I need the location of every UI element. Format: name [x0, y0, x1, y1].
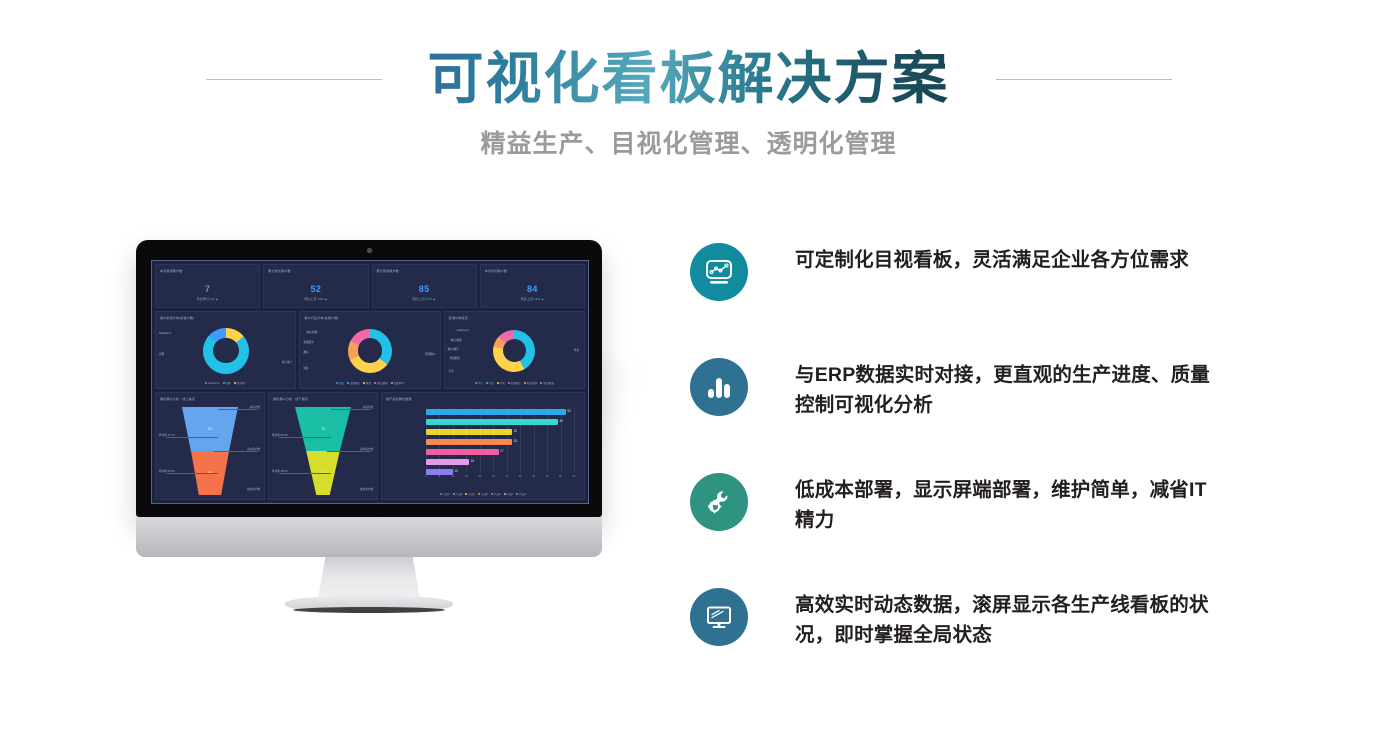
legend-item: 华北	[486, 381, 494, 385]
kpi-value: 52	[264, 284, 367, 294]
webcam-icon	[367, 248, 372, 253]
bar	[426, 459, 469, 465]
monitor-line-chart-icon	[690, 243, 748, 301]
axis-tick: 40	[532, 475, 535, 478]
kpi-title: 累计意向客户数	[377, 268, 399, 273]
donut-graphic	[493, 330, 535, 372]
funnel-segment: 73	[295, 407, 351, 451]
funnel-graphic: 73 52	[295, 407, 351, 487]
legend-item: 教育	[363, 381, 371, 385]
funnel-graphic: 117 68	[182, 407, 238, 487]
legend-item: 产品C	[465, 492, 475, 496]
bar-value: 32	[514, 439, 518, 443]
bar-plot-area: 52 49 32 32 27 16	[426, 407, 574, 473]
funnel-axis-label: 意向客户数	[247, 447, 260, 451]
legend-item: 产品F	[504, 492, 514, 496]
legend-item: 线下推广	[234, 381, 247, 385]
donut-graphic-wrap	[300, 325, 439, 376]
kpi-title: 本月新增客户数	[160, 268, 182, 273]
wrench-gear-icon	[690, 473, 748, 531]
title-rule-left	[206, 79, 382, 80]
axis-tick: 30	[505, 475, 508, 478]
legend-item: 产品G	[516, 492, 526, 496]
kpi-sub: 同比上月 17% ▲	[373, 296, 476, 301]
axis-tick: 35	[519, 475, 522, 478]
donut-graphic-wrap	[156, 325, 295, 376]
title-row: 可视化看板解决方案	[0, 44, 1377, 114]
legend-item: 华东	[475, 381, 483, 385]
legend-item: 产品A	[440, 492, 450, 496]
kpi-value: 7	[156, 284, 259, 294]
chart-title: 销售漏斗分析 - 线上渠道	[160, 396, 195, 401]
feature-item-2[interactable]: 与ERP数据实时对接，更直观的生产进度、质量控制可视化分析	[690, 358, 1230, 416]
feature-item-3[interactable]: 低成本部署，显示屏端部署，维护简单，减省IT精力	[690, 473, 1230, 531]
funnel-axis-label: 成交客户数	[360, 487, 373, 491]
kpi-title: 本月访问客户数	[485, 268, 507, 273]
funnel-leader-line	[218, 409, 258, 410]
kpi-sub: 同比上月 13% ▲	[264, 296, 367, 301]
monitor-chin	[136, 517, 602, 557]
axis-tick: 45	[546, 475, 549, 478]
monitor-base-edge	[293, 607, 445, 613]
feature-item-4[interactable]: 高效实时动态数据，滚屏显示各生产线看板的状况，即时掌握全局状态	[690, 588, 1230, 646]
legend-item: 金融服务	[508, 381, 521, 385]
chart-title: 各产品线销售数量	[386, 396, 412, 401]
axis-tick: 55	[573, 475, 576, 478]
legend-item: 华南	[497, 381, 505, 385]
funnel-rate-label: 转化率 45.6%	[159, 469, 175, 473]
legend-item: 电信/媒体	[374, 381, 388, 385]
chart-title: 客户来源分布(总客户数)	[160, 315, 194, 320]
feature-item-1[interactable]: 可定制化目视看板，灵活满足企业各方位需求	[690, 243, 1230, 301]
legend-item: 制造	[336, 381, 344, 385]
bar-value: 27	[500, 449, 504, 453]
kpi-row: 本月新增客户数 7 环比昨日 2% ▲ 累计成交客户数 52 同比上月 13% …	[155, 264, 585, 308]
chart-legend: Salesforce 官网 线下推广	[156, 381, 295, 385]
page-title: 可视化看板解决方案	[428, 46, 950, 112]
chart-title: 销售漏斗分析 - 线下渠道	[273, 396, 308, 401]
kpi-card[interactable]: 本月新增客户数 7 环比昨日 2% ▲	[155, 264, 260, 308]
kpi-card[interactable]: 累计意向客户数 85 同比上月 17% ▲	[372, 264, 477, 308]
chart-legend: 制造 金融服务 教育 电信/媒体 互联网/IT	[300, 381, 439, 385]
legend-item: 互联网/IT	[391, 381, 404, 385]
feature-list: 可定制化目视看板，灵活满足企业各方位需求 与ERP数据实时对接，更直观的生产进度…	[690, 243, 1230, 646]
dashboard-grid: 本月新增客户数 7 环比昨日 2% ▲ 累计成交客户数 52 同比上月 13% …	[152, 261, 588, 503]
legend-item: 官网	[223, 381, 231, 385]
funnel-rate-label: 转化率 47.1%	[159, 433, 175, 437]
legend-item: 电信/教育	[540, 381, 554, 385]
funnel-leader-line	[331, 409, 371, 410]
chart-legend: 华东 华北 华南 金融服务 电信/媒体 电信/教育	[445, 381, 584, 385]
kpi-sub: 环比昨日 2% ▲	[156, 296, 259, 301]
legend-item: 金融服务	[347, 381, 360, 385]
legend-item: 产品E	[491, 492, 501, 496]
funnel-rate-label: 转化率 56.3%	[272, 433, 288, 437]
bar-chart-icon	[690, 358, 748, 416]
funnel-chart-online[interactable]: 销售漏斗分析 - 线上渠道 117 68	[155, 392, 265, 500]
bar-value: 52	[567, 409, 571, 413]
funnel-leader-line	[279, 473, 331, 474]
axis-tick: 15	[465, 475, 468, 478]
funnel-axis-label: 总客户数	[250, 405, 260, 409]
legend-item: Salesforce	[205, 381, 220, 385]
chart-legend: 产品A 产品B 产品C 产品D 产品E 产品F 产品G	[382, 492, 584, 496]
funnel-leader-line	[327, 451, 371, 452]
kpi-value: 84	[481, 284, 584, 294]
funnel-leader-line	[214, 451, 258, 452]
axis-tick: 20	[478, 475, 481, 478]
funnel-segment: 117	[182, 407, 238, 451]
funnel-axis-label: 意向客户数	[360, 447, 373, 451]
bar-chart-product-sales[interactable]: 各产品线销售数量 52 49	[381, 392, 585, 500]
bar	[426, 429, 512, 435]
kpi-card[interactable]: 累计成交客户数 52 同比上月 13% ▲	[263, 264, 368, 308]
donut-graphic-wrap	[445, 325, 584, 376]
donut-chart-industry[interactable]: 客户行业分布(总客户数) 电信/媒体 金融服务 教育 制造 互联网/IT 制造	[299, 311, 440, 389]
chart-title: 区域分布情况	[449, 315, 468, 320]
legend-item: 电信/媒体	[524, 381, 538, 385]
kpi-value: 85	[373, 284, 476, 294]
bar	[426, 419, 558, 425]
axis-tick: 25	[492, 475, 495, 478]
bottom-row: 销售漏斗分析 - 线上渠道 117 68	[155, 392, 585, 500]
bar	[426, 409, 566, 415]
bar	[426, 449, 499, 455]
kpi-card[interactable]: 本月访问客户数 84 同比上月 13% ▲	[480, 264, 585, 308]
bar-value: 49	[559, 419, 563, 423]
funnel-axis-label: 成交客户数	[247, 487, 260, 491]
donut-graphic	[203, 328, 249, 374]
feature-text: 高效实时动态数据，滚屏显示各生产线看板的状况，即时掌握全局状态	[795, 588, 1210, 650]
page-subtitle: 精益生产、目视化管理、透明化管理	[0, 124, 1377, 160]
funnel-leader-line	[166, 473, 218, 474]
axis-tick: 50	[559, 475, 562, 478]
funnel-value: 117	[207, 427, 212, 431]
donut-chart-region[interactable]: 区域分布情况 Salesforce 电信/媒体 电信/教育 金融服务 华东 华北	[444, 311, 585, 389]
feature-text: 与ERP数据实时对接，更直观的生产进度、质量控制可视化分析	[795, 358, 1210, 420]
monitor-bezel: 本月新增客户数 7 环比昨日 2% ▲ 累计成交客户数 52 同比上月 13% …	[136, 240, 602, 517]
funnel-axis-label: 总客户数	[363, 405, 373, 409]
axis-tick: 0	[425, 475, 426, 478]
page-header: 可视化看板解决方案 精益生产、目视化管理、透明化管理	[0, 0, 1377, 190]
donut-graphic	[348, 329, 392, 373]
donut-chart-customer-source[interactable]: 客户来源分布(总客户数) Salesforce 官网 线下推广 线下推广 69.…	[155, 311, 296, 389]
funnel-rate-label: 转化率 38.2%	[272, 469, 288, 473]
bar-x-axis: 0 5 10 15 20 25 30 35 40 45 50	[426, 475, 574, 483]
desktop-monitor-icon	[690, 588, 748, 646]
funnel-leader-line	[279, 437, 331, 438]
kpi-sub: 同比上月 13% ▲	[481, 296, 584, 301]
chart-title: 客户行业分布(总客户数)	[304, 315, 338, 320]
feature-text: 可定制化目视看板，灵活满足企业各方位需求	[795, 243, 1210, 275]
monitor-mockup: 本月新增客户数 7 环比昨日 2% ▲ 累计成交客户数 52 同比上月 13% …	[136, 240, 602, 660]
bar-value: 16	[471, 459, 475, 463]
axis-tick: 10	[451, 475, 454, 478]
funnel-chart-offline[interactable]: 销售漏斗分析 - 线下渠道 73 52	[268, 392, 378, 500]
bar	[426, 439, 512, 445]
funnel-leader-line	[166, 437, 218, 438]
axis-tick: 5	[439, 475, 440, 478]
legend-item: 产品D	[478, 492, 488, 496]
page-root: 可视化看板解决方案 精益生产、目视化管理、透明化管理 本月新增客户数 7 环比昨…	[0, 0, 1377, 753]
dashboard-screen: 本月新增客户数 7 环比昨日 2% ▲ 累计成交客户数 52 同比上月 13% …	[151, 260, 589, 504]
bar-value: 10	[454, 469, 458, 473]
title-rule-right	[996, 79, 1172, 80]
legend-item: 产品B	[453, 492, 463, 496]
donut-row: 客户来源分布(总客户数) Salesforce 官网 线下推广 线下推广 69.…	[155, 311, 585, 389]
funnel-value: 73	[321, 427, 325, 431]
bar-value: 32	[514, 429, 518, 433]
kpi-title: 累计成交客户数	[268, 268, 290, 273]
feature-text: 低成本部署，显示屏端部署，维护简单，减省IT精力	[795, 473, 1210, 535]
